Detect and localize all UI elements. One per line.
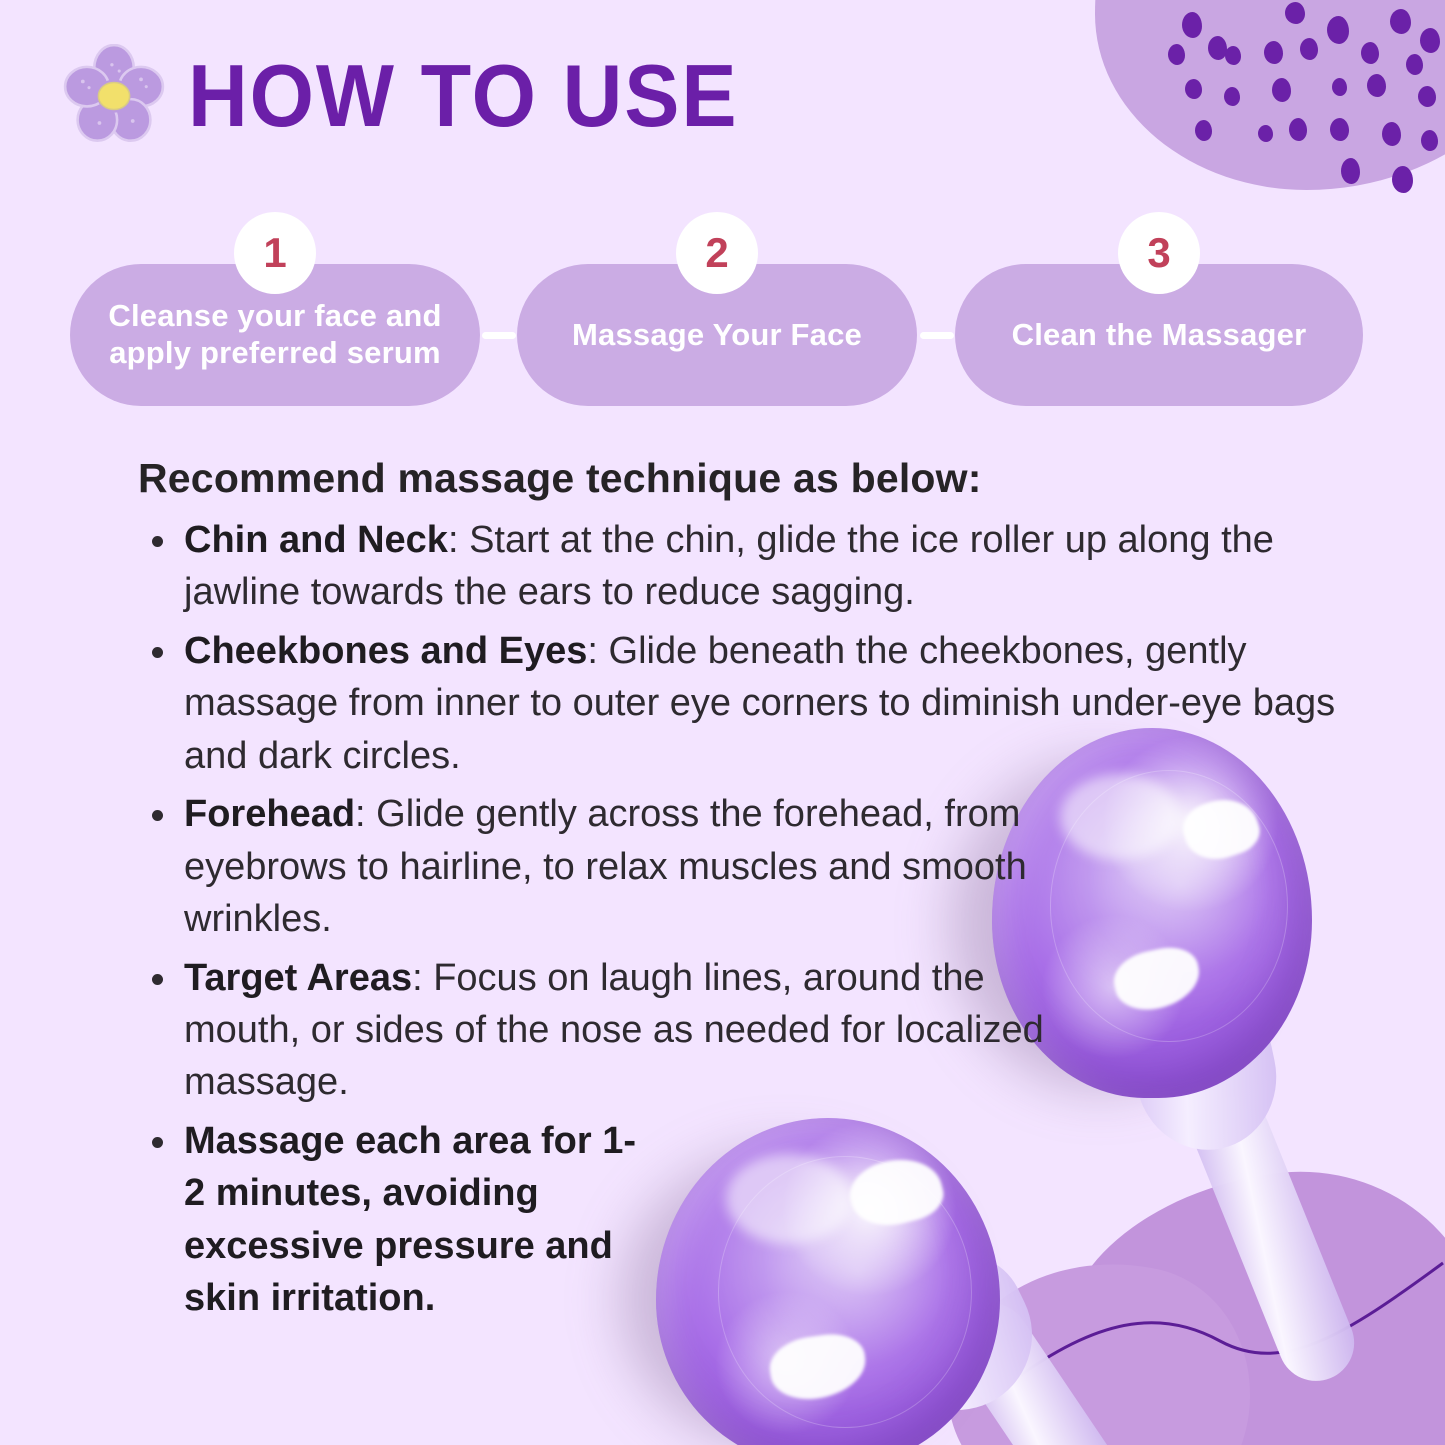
- decor-dot: [1392, 166, 1413, 193]
- decor-dot: [1332, 78, 1347, 96]
- decor-dot: [1195, 120, 1212, 141]
- decor-dot: [1341, 158, 1360, 184]
- decor-dot: [1361, 42, 1379, 64]
- decor-dot: [1272, 78, 1291, 102]
- infographic-canvas: HOW TO USE Cleanse your face and apply p…: [0, 0, 1445, 1445]
- list-item-lead: Chin and Neck: [184, 519, 448, 561]
- decor-dot: [1182, 12, 1202, 38]
- technique-list: Chin and Neck: Start at the chin, glide …: [138, 514, 1318, 1325]
- step-label-1: Cleanse your face and apply preferred se…: [92, 298, 458, 371]
- decor-dot: [1406, 54, 1423, 75]
- decor-dot: [1258, 125, 1273, 142]
- blob-top-right: [1095, 0, 1445, 190]
- step-badge-2: 2: [676, 212, 758, 294]
- steps-flow: Cleanse your face and apply preferred se…: [62, 212, 1382, 412]
- decor-dot: [1382, 122, 1401, 146]
- decor-dot: [1327, 16, 1349, 44]
- decor-dot: [1224, 87, 1240, 106]
- decor-dot: [1420, 28, 1440, 53]
- decor-dot: [1330, 118, 1349, 141]
- decor-dot: [1208, 36, 1227, 60]
- step-badge-3: 3: [1118, 212, 1200, 294]
- flower-icon: [62, 44, 166, 148]
- decor-dot: [1289, 118, 1307, 141]
- list-item: Target Areas: Focus on laugh lines, arou…: [138, 952, 1064, 1109]
- section-heading: Recommend massage technique as below:: [138, 455, 1318, 502]
- list-item-lead: Massage each area for 1-2 minutes, avoid…: [184, 1120, 636, 1319]
- decor-dot: [1418, 86, 1436, 107]
- decor-dot: [1367, 74, 1386, 97]
- page-title: HOW TO USE: [188, 52, 738, 140]
- step-badge-1: 1: [234, 212, 316, 294]
- list-item: Massage each area for 1-2 minutes, avoid…: [138, 1115, 654, 1325]
- instructions-section: Recommend massage technique as below: Ch…: [138, 455, 1318, 1331]
- list-item-lead: Cheekbones and Eyes: [184, 630, 587, 672]
- decor-dot: [1264, 41, 1283, 64]
- list-item-lead: Forehead: [184, 793, 355, 835]
- step-label-2: Massage Your Face: [572, 317, 862, 354]
- list-item-lead: Target Areas: [184, 957, 412, 999]
- decor-dot: [1168, 44, 1185, 65]
- decor-dot: [1285, 2, 1305, 24]
- step-connector-2-3: [920, 332, 954, 339]
- decor-dot: [1185, 79, 1202, 99]
- decor-dot: [1390, 9, 1411, 34]
- header: HOW TO USE: [62, 44, 774, 148]
- decor-dot: [1225, 46, 1241, 65]
- step-connector-1-2: [482, 332, 516, 339]
- list-item: Chin and Neck: Start at the chin, glide …: [138, 514, 1364, 619]
- decor-dot: [1421, 130, 1438, 151]
- step-label-3: Clean the Massager: [1012, 317, 1307, 354]
- list-item: Cheekbones and Eyes: Glide beneath the c…: [138, 625, 1364, 782]
- decor-dot: [1300, 38, 1318, 60]
- list-item: Forehead: Glide gently across the forehe…: [138, 788, 1064, 945]
